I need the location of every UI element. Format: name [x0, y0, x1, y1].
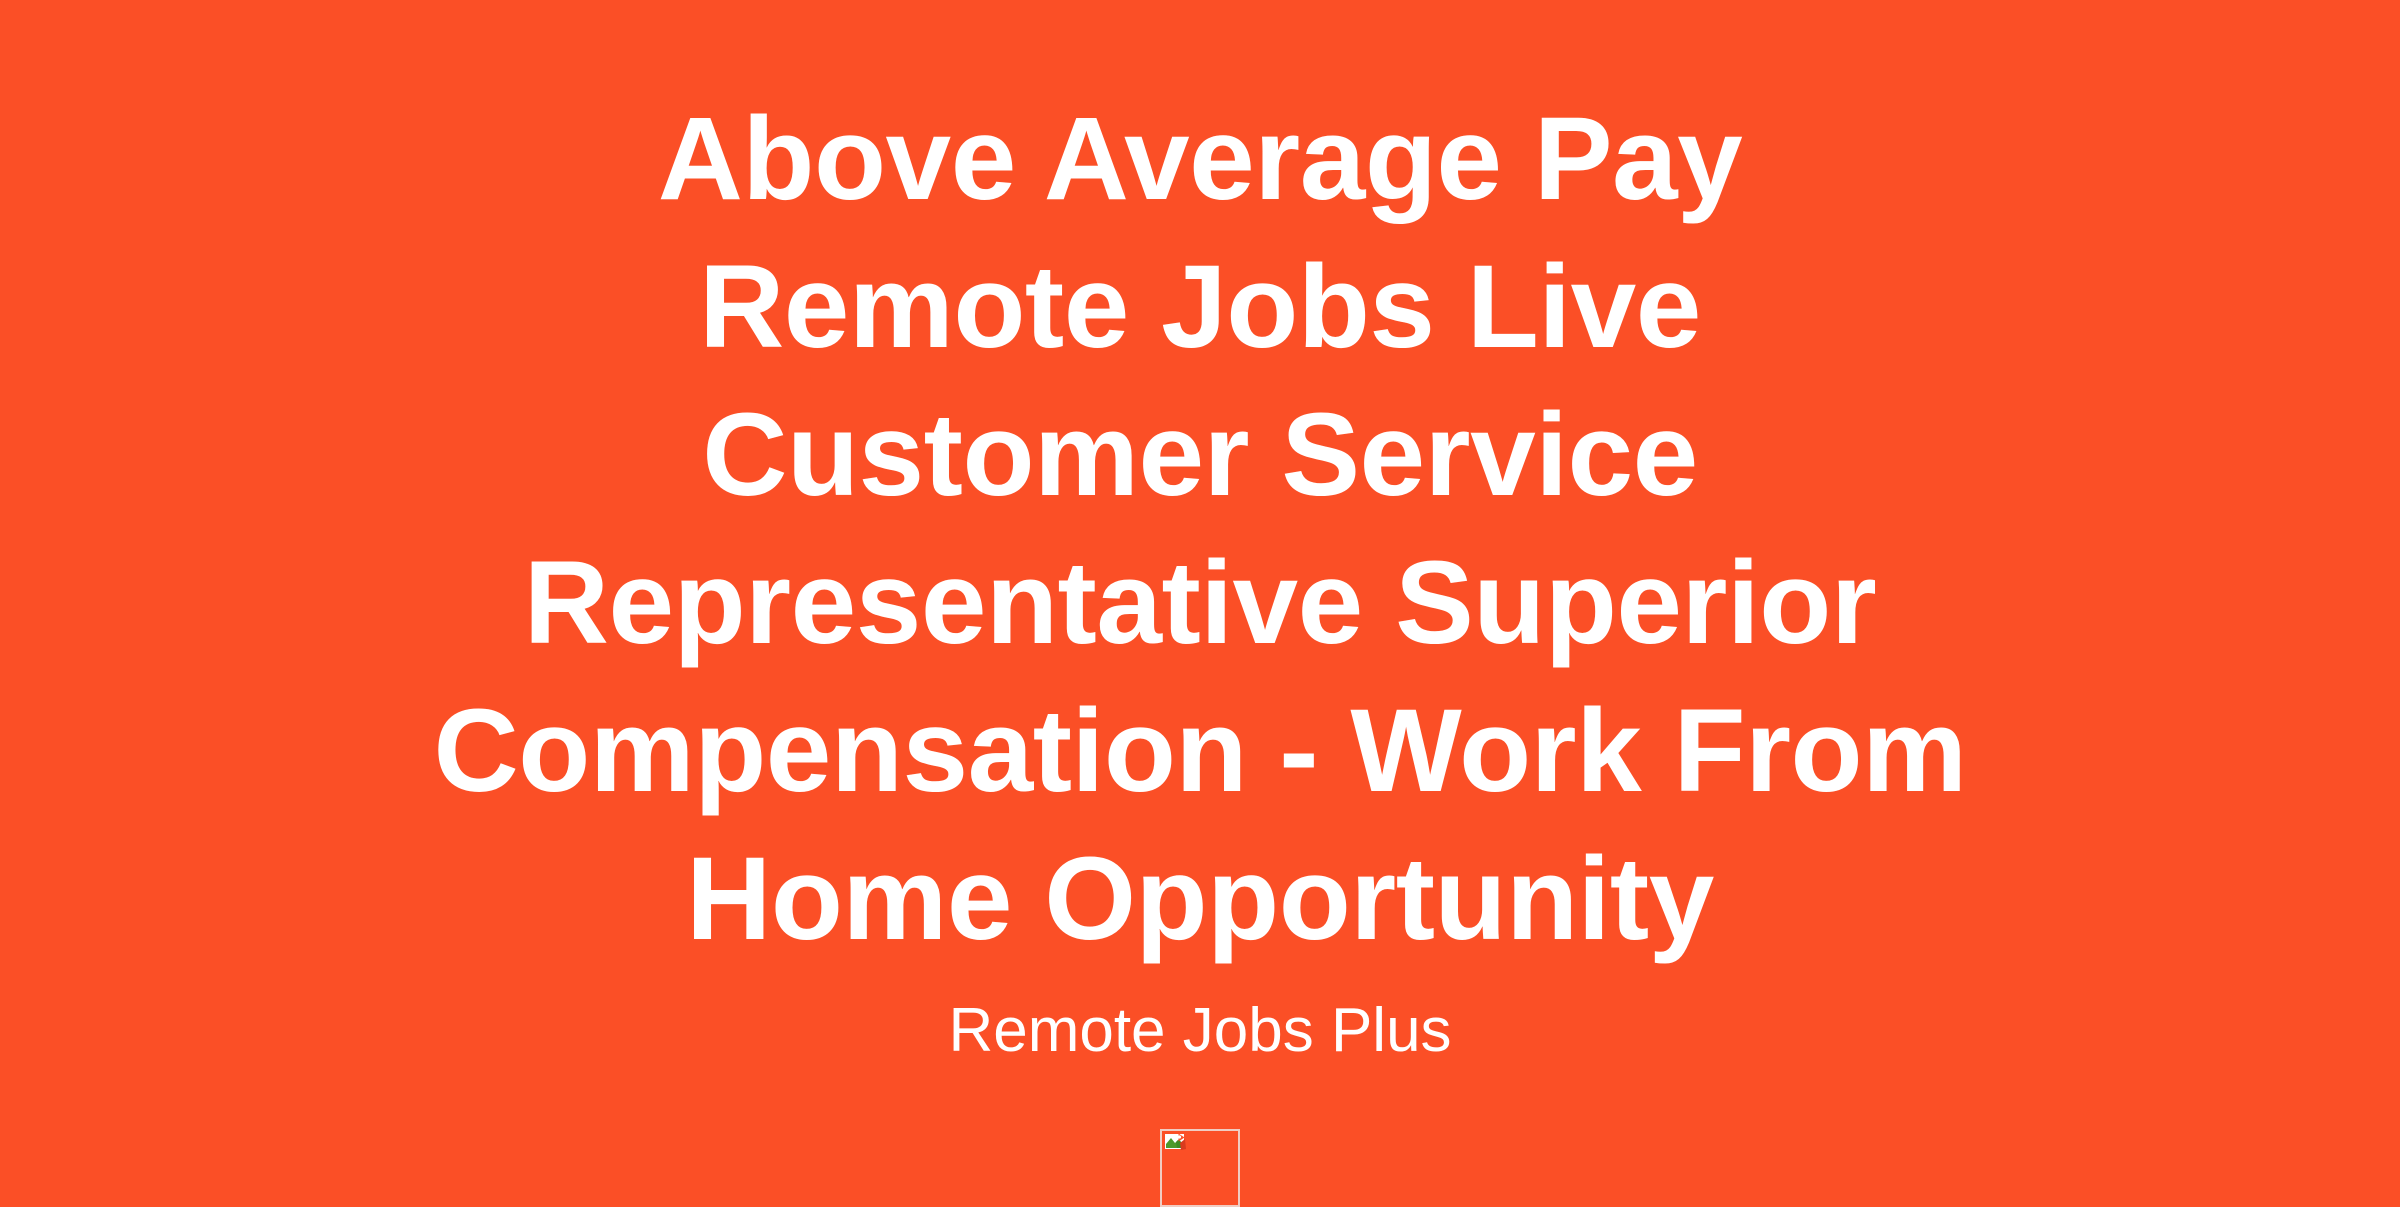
promo-banner: Above Average Pay Remote Jobs Live Custo… — [0, 0, 2400, 1173]
broken-image-placeholder — [1160, 1129, 1240, 1207]
site-name-subtitle: Remote Jobs Plus — [430, 995, 1970, 1067]
page-title: Above Average Pay Remote Jobs Live Custo… — [430, 85, 1970, 973]
media-row — [430, 1129, 1970, 1207]
